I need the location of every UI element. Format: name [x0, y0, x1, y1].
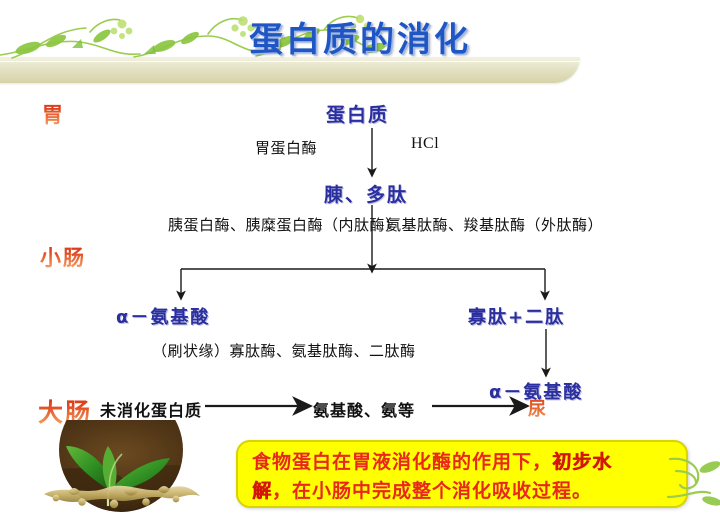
seedling-photo	[28, 420, 214, 517]
slide-canvas: 蛋白质的消化 胃 小肠 大肠 蛋白质 胃蛋白酶 HCl 腖、多肽	[0, 0, 720, 517]
term-amino-acid-left: α－氨基酸	[116, 303, 210, 329]
page-title: 蛋白质的消化	[0, 12, 720, 61]
enzyme-brush-border: （刷状缘）寡肽酶、氨基肽酶、二肽酶	[152, 340, 416, 361]
enzyme-exopeptidase: 氨基肽酶、羧基肽酶（外肽酶）	[386, 214, 566, 235]
summary-callout: 食物蛋白在胃液消化酶的作用下，初步水 解，在小肠中完成整个消化吸收过程。	[236, 440, 688, 508]
term-peptone-polypeptide: 腖、多肽	[324, 180, 408, 207]
organ-label-small-intestine: 小肠	[40, 242, 86, 272]
callout-line-1: 食物蛋白在胃液消化酶的作用下，初步水	[252, 448, 674, 477]
organ-label-stomach: 胃	[42, 99, 65, 129]
corner-vine-decoration	[666, 445, 720, 511]
callout-line2-text: ，在小肠中完成整个消化吸收过程。	[272, 480, 592, 502]
callout-line-2: 解，在小肠中完成整个消化吸收过程。	[252, 477, 674, 506]
callout-line2-emphasis: 解	[252, 480, 272, 502]
term-protein: 蛋白质	[326, 100, 389, 127]
slide-header: 蛋白质的消化	[0, 0, 720, 88]
callout-line1-text: 食物蛋白在胃液消化酶的作用下，	[252, 451, 552, 473]
flow-urine: 尿	[528, 395, 547, 421]
flow-amino-acid-ammonia: 氨基酸、氨等	[313, 397, 415, 421]
enzyme-pepsin: 胃蛋白酶	[255, 137, 317, 158]
flow-undigested-protein: 未消化蛋白质	[100, 397, 202, 421]
label-hcl: HCl	[411, 135, 439, 153]
callout-line1-emphasis: 初步水	[552, 451, 612, 473]
term-oligopeptide-dipeptide: 寡肽+二肽	[468, 303, 565, 329]
enzyme-endopeptidase: 胰蛋白酶、胰糜蛋白酶（内肽酶）	[168, 214, 358, 235]
